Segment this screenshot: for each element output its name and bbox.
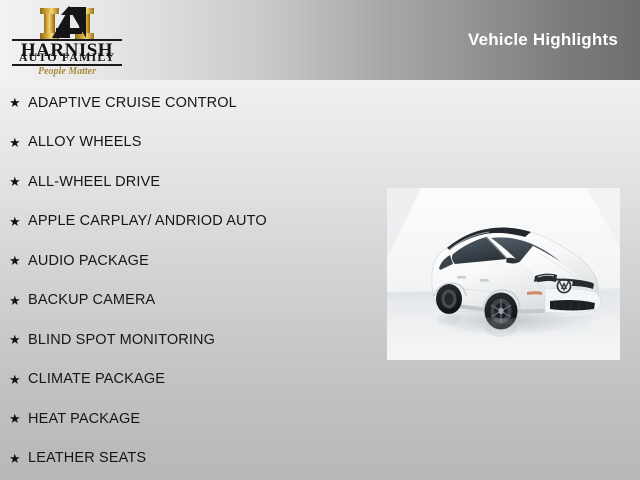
list-item-label: LEATHER SEATS [28, 450, 146, 466]
star-bullet-icon: ★ [9, 452, 28, 465]
star-bullet-icon: ★ [9, 254, 28, 267]
star-bullet-icon: ★ [9, 333, 28, 346]
list-item: ★ APPLE CARPLAY/ ANDRIOD AUTO [0, 202, 380, 242]
star-bullet-icon: ★ [9, 96, 28, 109]
list-item-label: BLIND SPOT MONITORING [28, 332, 215, 348]
vehicle-highlights-page: HARNISH AUTO FAMILY People Matter Vehicl… [0, 0, 640, 480]
star-bullet-icon: ★ [9, 373, 28, 386]
list-item-label: APPLE CARPLAY/ ANDRIOD AUTO [28, 213, 267, 229]
page-header: HARNISH AUTO FAMILY People Matter Vehicl… [0, 0, 640, 80]
star-bullet-icon: ★ [9, 175, 28, 188]
list-item-label: AUDIO PACKAGE [28, 253, 149, 269]
list-item: ★ BACKUP CAMERA [0, 281, 380, 321]
star-bullet-icon: ★ [9, 294, 28, 307]
page-title: Vehicle Highlights [468, 30, 618, 50]
list-item-label: ALL-WHEEL DRIVE [28, 174, 160, 190]
list-item-label: BACKUP CAMERA [28, 292, 155, 308]
list-item-label: ADAPTIVE CRUISE CONTROL [28, 95, 237, 111]
list-item-label: ALLOY WHEELS [28, 134, 142, 150]
list-item: ★ CLIMATE PACKAGE [0, 360, 380, 400]
vehicle-photo-image [387, 188, 620, 360]
list-item: ★ AUDIO PACKAGE [0, 241, 380, 281]
list-item: ★ ADAPTIVE CRUISE CONTROL [0, 83, 380, 123]
rear-wheel [436, 284, 462, 314]
list-item: ★ ALL-WHEEL DRIVE [0, 162, 380, 202]
logo-subname: AUTO FAMILY [12, 50, 122, 64]
logo-monogram-icon [12, 6, 122, 38]
list-item: ★ BLIND SPOT MONITORING [0, 320, 380, 360]
star-bullet-icon: ★ [9, 215, 28, 228]
dealer-logo: HARNISH AUTO FAMILY People Matter [12, 6, 122, 76]
list-item: ★ HEAT PACKAGE [0, 399, 380, 439]
star-bullet-icon: ★ [9, 412, 28, 425]
star-bullet-icon: ★ [9, 136, 28, 149]
list-item-label: CLIMATE PACKAGE [28, 371, 165, 387]
vehicle-photo [387, 188, 620, 360]
list-item: ★ LEATHER SEATS [0, 439, 380, 479]
list-item-label: HEAT PACKAGE [28, 411, 140, 427]
logo-tagline: People Matter [12, 66, 122, 78]
list-item: ★ ALLOY WHEELS [0, 123, 380, 163]
vehicle-highlights-list: ★ ADAPTIVE CRUISE CONTROL ★ ALLOY WHEELS… [0, 83, 380, 478]
